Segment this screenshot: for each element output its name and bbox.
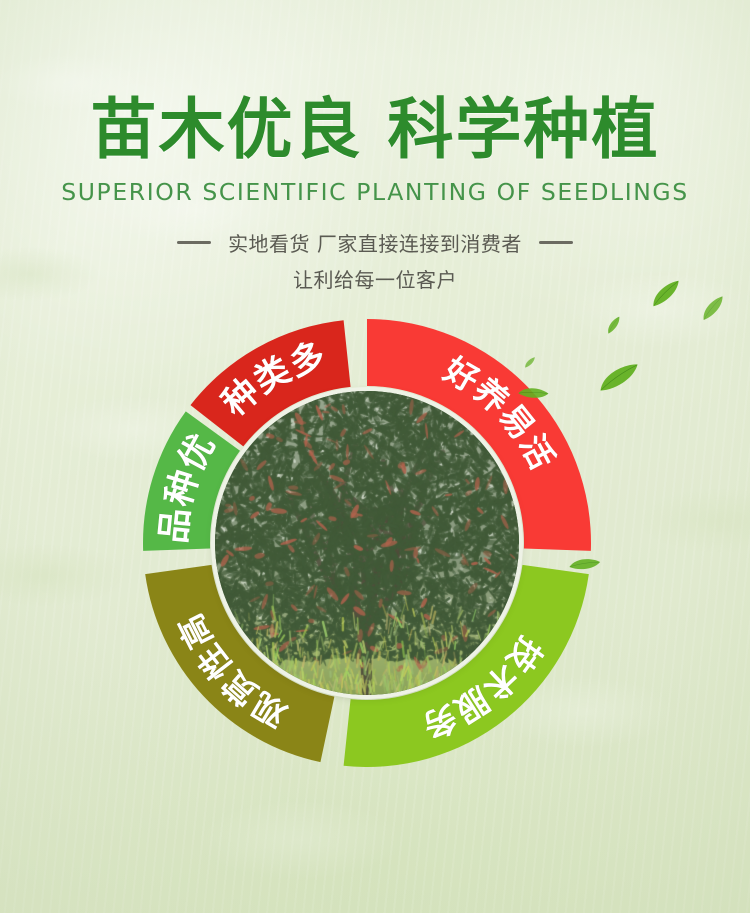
promo-page: 苗木优良 科学种植 SUPERIOR SCIENTIFIC PLANTING O… bbox=[0, 0, 750, 913]
divider-right bbox=[539, 241, 573, 244]
leaf-2-icon bbox=[599, 311, 620, 331]
tagline-row: 实地看货 厂家直接连接到消费者 bbox=[0, 228, 750, 257]
page-subtitle: SUPERIOR SCIENTIFIC PLANTING OF SEEDLING… bbox=[0, 178, 750, 206]
page-title: 苗木优良 科学种植 bbox=[0, 96, 750, 162]
divider-left bbox=[177, 241, 211, 244]
tagline-line-2: 让利给每一位客户 bbox=[0, 264, 750, 293]
leaf-4-icon bbox=[696, 293, 728, 321]
tagline: 实地看货 厂家直接连接到消费者 让利给每一位客户 bbox=[0, 228, 750, 293]
header: 苗木优良 科学种植 SUPERIOR SCIENTIFIC PLANTING O… bbox=[0, 0, 750, 293]
tree-photo-canvas bbox=[215, 391, 519, 695]
center-photo bbox=[215, 391, 519, 695]
leaf-3-icon bbox=[594, 361, 644, 393]
feature-wheel: 种类多好养易活技术服务观赏性高品种优 bbox=[141, 317, 593, 769]
tagline-line-1: 实地看货 厂家直接连接到消费者 bbox=[228, 228, 522, 257]
